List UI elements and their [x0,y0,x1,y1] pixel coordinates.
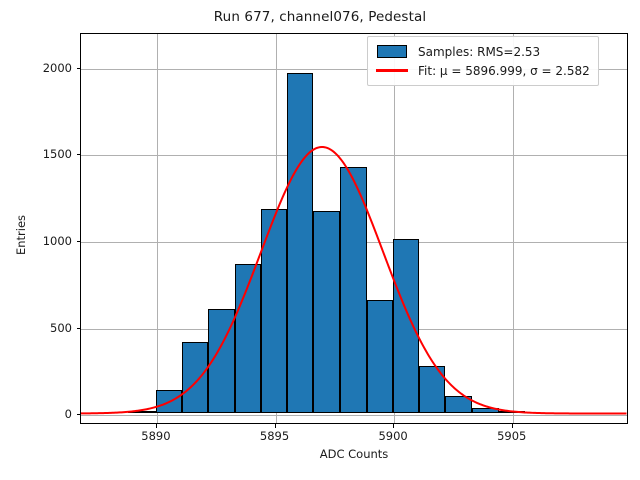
y-tick-label: 1500 [0,147,72,161]
y-tick-label: 1000 [0,234,72,248]
legend-label-samples: Samples: RMS=2.53 [418,45,540,59]
legend-item-samples: Samples: RMS=2.53 [375,42,590,61]
y-tick-label: 2000 [0,61,72,75]
y-tick-label: 0 [0,407,72,421]
legend-item-fit: Fit: μ = 5896.999, σ = 2.582 [375,61,590,80]
chart-legend: Samples: RMS=2.53 Fit: μ = 5896.999, σ =… [367,36,599,86]
chart-figure: Run 677, channel076, Pedestal 5890589559… [0,0,640,480]
legend-patch-swatch-icon [375,45,409,59]
legend-label-fit: Fit: μ = 5896.999, σ = 2.582 [418,64,590,78]
y-axis-label: Entries [14,135,28,335]
x-axis-label: ADC Counts [80,447,628,461]
y-tick-label: 500 [0,321,72,335]
legend-line-swatch-icon [375,64,409,78]
